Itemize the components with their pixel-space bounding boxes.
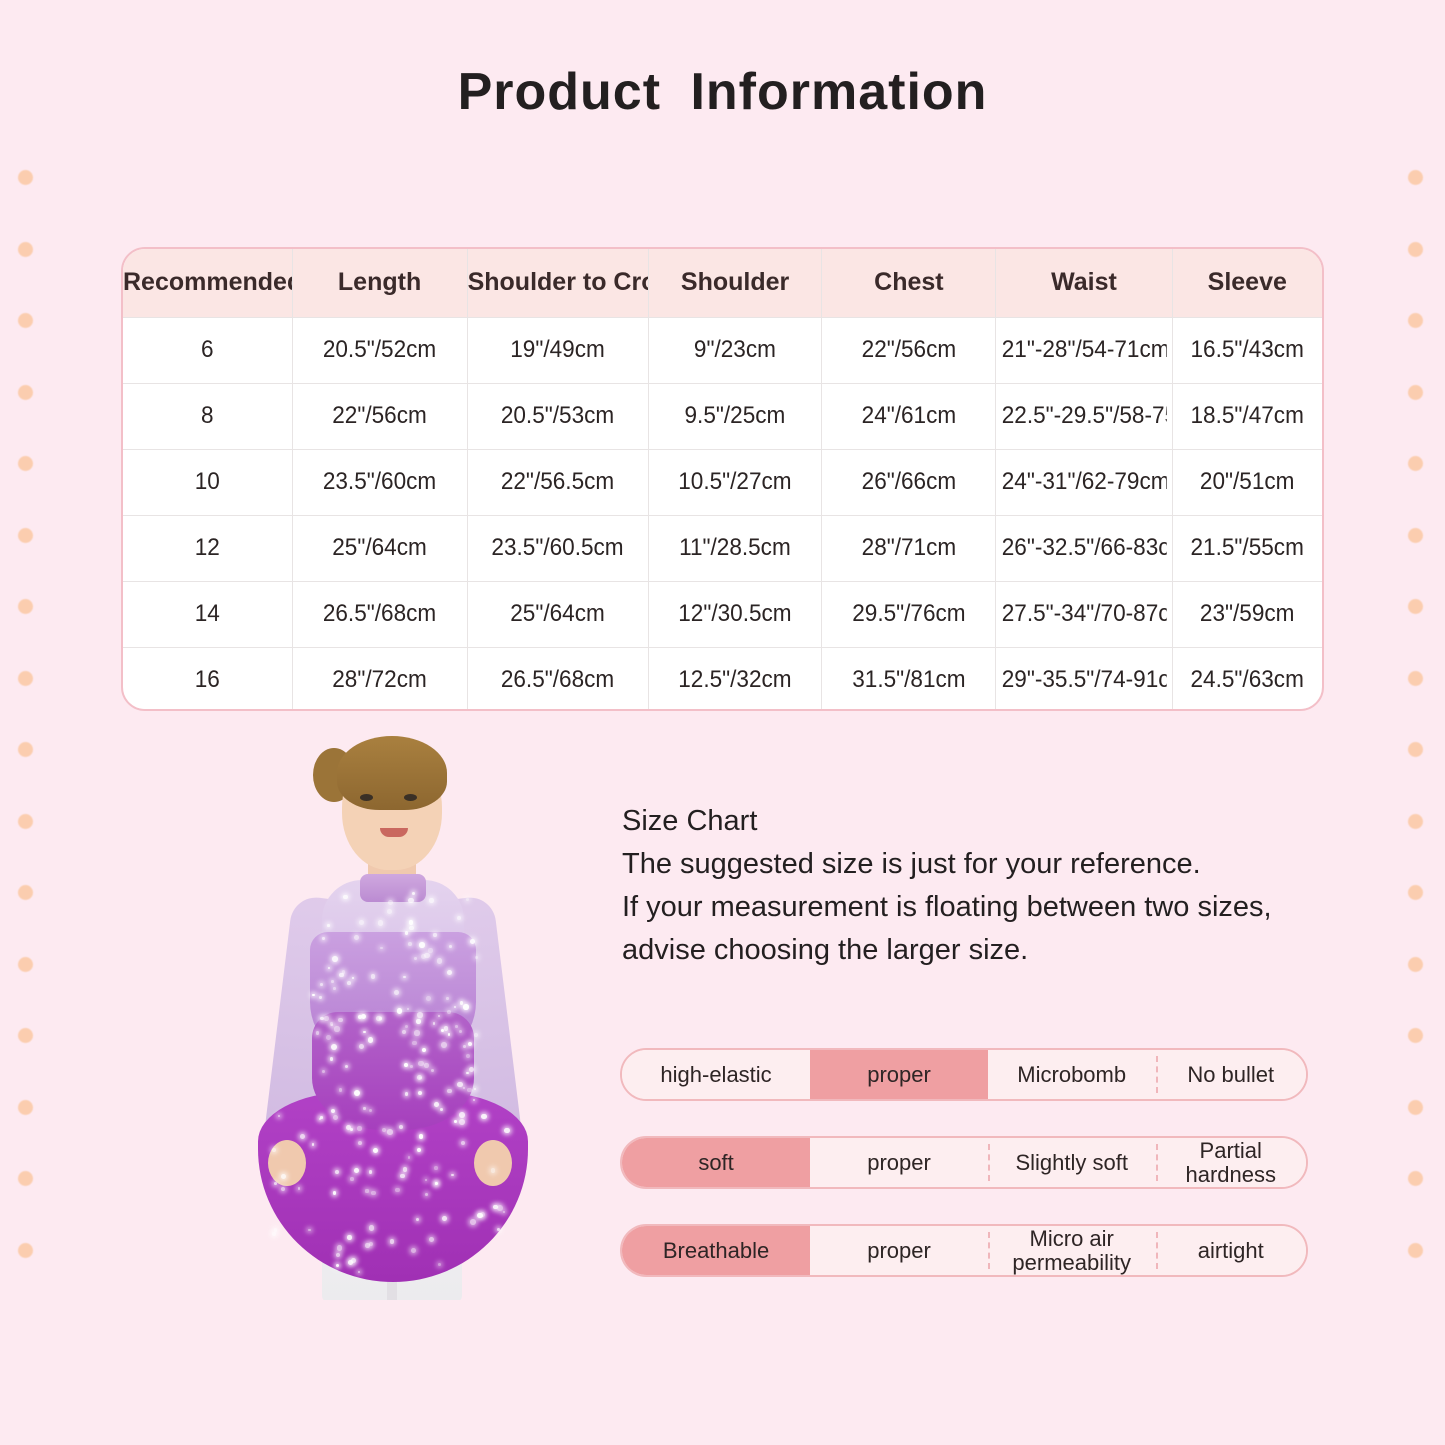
cell-shoulder: 12.5"/32cm — [653, 647, 816, 711]
dress-sparkle — [365, 1189, 368, 1192]
model-hair — [337, 736, 447, 810]
dress-sparkle — [347, 981, 351, 985]
cell-chest: 28"/71cm — [827, 515, 990, 581]
column-header-chest: Chest — [822, 249, 996, 317]
decorative-dot — [18, 170, 33, 185]
dress-sparkle — [449, 945, 452, 948]
table-row: 8 22"/56cm 20.5"/53cm 9.5"/25cm 24"/61cm… — [123, 383, 1322, 449]
dress-sparkle — [463, 1004, 469, 1010]
dress-sparkle — [357, 1126, 362, 1131]
dress-sparkle — [358, 1141, 362, 1145]
dress-sparkle — [426, 996, 431, 1001]
attribute-segment-micro-air-permeability[interactable]: Micro air permeability — [988, 1226, 1156, 1275]
size-chart-table-container: Recommended Size Length Shoulder to Crot… — [121, 247, 1324, 711]
decorative-dot — [1408, 1243, 1423, 1258]
dress-sparkle — [459, 1112, 465, 1118]
dress-sparkle — [451, 1174, 453, 1176]
dress-sparkle — [338, 1018, 342, 1022]
attribute-segment-proper[interactable]: proper — [810, 1226, 988, 1275]
cell-shoulder: 9.5"/25cm — [653, 383, 816, 449]
dress-sparkle — [363, 1031, 365, 1033]
dress-sparkle — [416, 1019, 420, 1023]
decorative-dot — [18, 1100, 33, 1115]
model-hand-right — [474, 1140, 512, 1186]
dress-sparkle — [467, 1088, 472, 1093]
dress-sparkle — [403, 976, 406, 979]
decorative-dot — [18, 385, 33, 400]
cell-stc: 23.5"/60.5cm — [473, 515, 643, 581]
decorative-dot — [1408, 1171, 1423, 1186]
cell-length: 26.5"/68cm — [297, 581, 462, 647]
dress-sparkle — [345, 1065, 348, 1068]
dress-sparkle — [405, 1092, 409, 1096]
cell-size: 12 — [128, 515, 287, 581]
dress-sparkle — [346, 1125, 351, 1130]
dress-sparkle — [446, 997, 449, 1000]
cell-stc: 22"/56.5cm — [473, 449, 643, 515]
dress-sparkle — [410, 1065, 413, 1068]
cell-waist: 29"-35.5"/74-91cm — [1001, 647, 1167, 711]
size-chart-note-line-3: advise choosing the larger size. — [622, 929, 1322, 972]
cell-size: 14 — [128, 581, 287, 647]
cell-waist: 24"-31"/62-79cm — [1001, 449, 1167, 515]
dress-sparkle — [322, 937, 324, 939]
dress-sparkle — [424, 1063, 428, 1067]
dress-sparkle — [319, 996, 321, 998]
decorative-dot — [1408, 170, 1423, 185]
dress-sparkle — [347, 1235, 351, 1239]
decorative-dot — [18, 242, 33, 257]
cell-waist: 22.5"-29.5"/58-75cm — [1001, 383, 1167, 449]
cell-length: 23.5"/60cm — [297, 449, 462, 515]
attribute-segment-no-bullet[interactable]: No bullet — [1156, 1050, 1306, 1099]
dress-sparkle — [298, 1187, 301, 1190]
cell-length: 22"/56cm — [297, 383, 462, 449]
cell-size: 16 — [128, 647, 287, 711]
dress-sparkle — [331, 980, 334, 983]
cell-chest: 24"/61cm — [827, 383, 990, 449]
dress-sparkle — [395, 1188, 399, 1192]
cell-length: 25"/64cm — [297, 515, 462, 581]
dress-sparkle — [411, 1248, 416, 1253]
dress-sparkle — [428, 948, 432, 952]
cell-sleeve: 24.5"/63cm — [1177, 647, 1318, 711]
dress-sparkle — [463, 1045, 466, 1048]
dress-sparkle — [470, 939, 475, 944]
dress-sparkle — [441, 1042, 447, 1048]
decorative-dot — [18, 599, 33, 614]
cell-size: 10 — [128, 449, 287, 515]
dress-sparkle — [397, 1008, 402, 1013]
dress-sparkle — [316, 1031, 319, 1034]
dress-sparkle — [421, 954, 426, 959]
dress-sparkle — [330, 1057, 333, 1060]
dress-sparkle — [434, 1166, 438, 1170]
dress-sparkle — [463, 1087, 465, 1089]
decorative-dot — [1408, 957, 1423, 972]
dress-sparkle — [320, 1116, 323, 1119]
cell-waist: 26"-32.5"/66-83cm — [1001, 515, 1167, 581]
attribute-segment-airtight[interactable]: airtight — [1156, 1226, 1306, 1275]
size-chart-note-heading: Size Chart — [622, 800, 1322, 843]
attribute-segment-high-elastic[interactable]: high-elastic — [622, 1050, 810, 1099]
column-header-shoulder-to-crotch: Shoulder to Crotch — [467, 249, 648, 317]
dress-sparkle — [491, 1168, 496, 1173]
decorative-dot — [1408, 242, 1423, 257]
dress-sparkle — [437, 958, 443, 964]
dress-sparkle — [378, 920, 383, 925]
cell-sleeve: 20"/51cm — [1177, 449, 1318, 515]
dress-sparkle — [365, 1243, 370, 1248]
column-header-sleeve: Sleeve — [1172, 249, 1322, 317]
decorative-dot — [1408, 814, 1423, 829]
attribute-segment-partial-hardness[interactable]: Partial hardness — [1156, 1138, 1306, 1187]
dress-sparkle — [324, 1016, 329, 1021]
cell-shoulder: 9"/23cm — [653, 317, 816, 383]
dress-sparkle — [408, 942, 412, 946]
cell-waist: 27.5"-34"/70-87cm — [1001, 581, 1167, 647]
model-eye-left — [360, 794, 373, 801]
dress-sparkle — [433, 933, 436, 936]
dress-sparkle — [400, 1174, 405, 1179]
cell-sleeve: 23"/59cm — [1177, 581, 1318, 647]
table-row: 14 26.5"/68cm 25"/64cm 12"/30.5cm 29.5"/… — [123, 581, 1322, 647]
dress-sparkle — [333, 987, 336, 990]
cell-shoulder: 11"/28.5cm — [653, 515, 816, 581]
cell-waist: 21"-28"/54-71cm — [1001, 317, 1167, 383]
table-row: 10 23.5"/60cm 22"/56.5cm 10.5"/27cm 26"/… — [123, 449, 1322, 515]
decorative-dot — [1408, 742, 1423, 757]
dress-sparkle — [336, 1264, 339, 1267]
decorative-dot — [18, 957, 33, 972]
table-row: 6 20.5"/52cm 19"/49cm 9"/23cm 22"/56cm 2… — [123, 317, 1322, 383]
dress-sparkle — [274, 1182, 277, 1185]
dress-sparkle — [281, 1187, 285, 1191]
decorative-dot — [18, 456, 33, 471]
dress-sparkle — [418, 1091, 422, 1095]
dress-sparkle — [352, 977, 354, 979]
size-chart-note: Size Chart The suggested size is just fo… — [622, 800, 1322, 972]
dress-sparkle — [431, 1069, 434, 1072]
model-eye-right — [404, 794, 417, 801]
dress-sparkle — [412, 1041, 416, 1045]
size-chart-table: Recommended Size Length Shoulder to Crot… — [123, 249, 1322, 711]
table-row: 12 25"/64cm 23.5"/60.5cm 11"/28.5cm 28"/… — [123, 515, 1322, 581]
cell-sleeve: 18.5"/47cm — [1177, 383, 1318, 449]
cell-sleeve: 21.5"/55cm — [1177, 515, 1318, 581]
model-hand-left — [268, 1140, 306, 1186]
dress-sparkle — [404, 1063, 408, 1067]
decorative-dot — [18, 1171, 33, 1186]
dress-sparkle — [379, 1017, 382, 1020]
decorative-dot — [1408, 885, 1423, 900]
dress-sparkle — [342, 970, 345, 973]
column-header-shoulder: Shoulder — [648, 249, 822, 317]
size-chart-note-line-2: If your measurement is floating between … — [622, 886, 1322, 929]
decorative-dot — [18, 671, 33, 686]
decorative-dots-right — [1398, 0, 1438, 1445]
decorative-dot — [1408, 1100, 1423, 1115]
dress-sparkle — [388, 900, 393, 905]
attribute-bar-elasticity: high-elastic proper Microbomb No bullet — [620, 1048, 1308, 1101]
cell-chest: 22"/56cm — [827, 317, 990, 383]
column-header-waist: Waist — [996, 249, 1172, 317]
dress-sparkle — [369, 1170, 373, 1174]
cell-shoulder: 10.5"/27cm — [653, 449, 816, 515]
dress-sparkle — [350, 1177, 354, 1181]
cell-chest: 29.5"/76cm — [827, 581, 990, 647]
decorative-dot — [1408, 1028, 1423, 1043]
dress-sparkle — [477, 1213, 483, 1219]
dress-sparkle — [369, 1225, 375, 1231]
table-header-row: Recommended Size Length Shoulder to Crot… — [123, 249, 1322, 317]
dress-sparkle — [312, 994, 314, 996]
decorative-dots-left — [8, 0, 48, 1445]
decorative-dot — [18, 885, 33, 900]
dress-sparkle — [504, 1128, 509, 1133]
cell-stc: 19"/49cm — [473, 317, 643, 383]
cell-size: 8 — [128, 383, 287, 449]
dress-sparkle — [403, 1167, 408, 1172]
dress-sparkle — [354, 1090, 360, 1096]
decorative-dot — [1408, 599, 1423, 614]
dress-sparkle — [274, 1228, 278, 1232]
column-header-length: Length — [292, 249, 467, 317]
cell-sleeve: 16.5"/43cm — [1177, 317, 1318, 383]
product-photo-stage — [182, 722, 602, 1300]
attribute-segment-proper[interactable]: proper — [810, 1050, 988, 1099]
dress-sparkle — [457, 916, 461, 920]
dress-sparkle — [371, 1191, 375, 1195]
dress-sparkle — [481, 1114, 486, 1119]
dress-sparkle — [409, 920, 413, 924]
product-photo — [182, 722, 602, 1300]
column-header-recommended-size: Recommended Size — [123, 249, 292, 317]
dress-sparkle — [444, 1026, 448, 1030]
dress-sparkle — [419, 942, 424, 947]
page-title: Product Information — [0, 62, 1445, 122]
attribute-segment-slightly-soft[interactable]: Slightly soft — [988, 1138, 1156, 1187]
dress-sparkle — [425, 1179, 427, 1181]
dress-sparkle — [419, 1077, 422, 1080]
dress-sparkle — [457, 1082, 463, 1088]
dress-sparkle — [414, 957, 417, 960]
dress-sparkle — [412, 892, 415, 895]
dress-sparkle — [497, 1228, 500, 1231]
attribute-segment-proper[interactable]: proper — [810, 1138, 988, 1187]
cell-stc: 20.5"/53cm — [473, 383, 643, 449]
dress-sparkle — [429, 898, 433, 902]
dress-sparkle — [371, 974, 375, 978]
dress-sparkle — [408, 1156, 411, 1159]
cell-length: 28"/72cm — [297, 647, 462, 711]
dress-sparkle — [466, 1072, 469, 1075]
attribute-bar-softness: soft proper Slightly soft Partial hardne… — [620, 1136, 1308, 1189]
decorative-dot — [1408, 528, 1423, 543]
cell-chest: 31.5"/81cm — [827, 647, 990, 711]
attribute-bars: high-elastic proper Microbomb No bullet … — [620, 1048, 1308, 1312]
attribute-segment-breathable[interactable]: Breathable — [622, 1226, 810, 1275]
dress-sparkle — [312, 1143, 314, 1145]
dress-sparkle — [331, 1024, 333, 1026]
dress-sparkle — [334, 1026, 339, 1031]
dress-sparkle — [442, 1216, 447, 1221]
dress-collar — [360, 874, 426, 902]
dress-sparkle — [332, 956, 338, 962]
decorative-dot — [18, 814, 33, 829]
dress-sparkle — [333, 1191, 336, 1194]
decorative-dot — [1408, 385, 1423, 400]
dress-sparkle — [408, 898, 414, 904]
attribute-segment-microbomb[interactable]: Microbomb — [988, 1050, 1156, 1099]
dress-sparkle — [363, 1107, 365, 1109]
decorative-dot — [18, 1243, 33, 1258]
dress-sparkle — [470, 1219, 476, 1225]
decorative-dot — [18, 1028, 33, 1043]
dress-sparkle — [414, 1030, 420, 1036]
decorative-dot — [18, 742, 33, 757]
cell-shoulder: 12"/30.5cm — [653, 581, 816, 647]
cell-stc: 26.5"/68cm — [473, 647, 643, 711]
dress-sparkle — [387, 1129, 393, 1135]
decorative-dot — [1408, 671, 1423, 686]
dress-sparkle — [369, 1109, 372, 1112]
size-chart-note-line-1: The suggested size is just for your refe… — [622, 843, 1322, 886]
attribute-bar-breathability: Breathable proper Micro air permeability… — [620, 1224, 1308, 1277]
cell-stc: 25"/64cm — [473, 581, 643, 647]
dress-sparkle — [339, 1088, 342, 1091]
dress-sparkle — [272, 1232, 276, 1236]
size-chart-table-head: Recommended Size Length Shoulder to Crot… — [123, 249, 1322, 317]
cell-length: 20.5"/52cm — [297, 317, 462, 383]
dress-sparkle — [359, 1044, 364, 1049]
decorative-dot — [18, 528, 33, 543]
table-row: 16 28"/72cm 26.5"/68cm 12.5"/32cm 31.5"/… — [123, 647, 1322, 711]
dress-sparkle — [373, 1148, 378, 1153]
decorative-dot — [1408, 456, 1423, 471]
dress-sparkle — [455, 1025, 458, 1028]
cell-chest: 26"/66cm — [827, 449, 990, 515]
dress-sparkle — [327, 924, 330, 927]
dress-sparkle — [272, 1148, 276, 1152]
dress-sparkle — [300, 1134, 305, 1139]
dress-sparkle — [468, 1042, 472, 1046]
size-chart-table-body: 6 20.5"/52cm 19"/49cm 9"/23cm 22"/56cm 2… — [123, 317, 1322, 711]
decorative-dot — [1408, 313, 1423, 328]
cell-size: 6 — [128, 317, 287, 383]
decorative-dot — [18, 313, 33, 328]
dress-sparkle — [417, 1012, 422, 1017]
dress-sparkle — [361, 1014, 367, 1020]
dress-sparkle — [402, 1030, 406, 1034]
dress-sparkle — [382, 1128, 386, 1132]
attribute-segment-soft[interactable]: soft — [622, 1138, 810, 1187]
dress-sparkle — [459, 1119, 465, 1125]
